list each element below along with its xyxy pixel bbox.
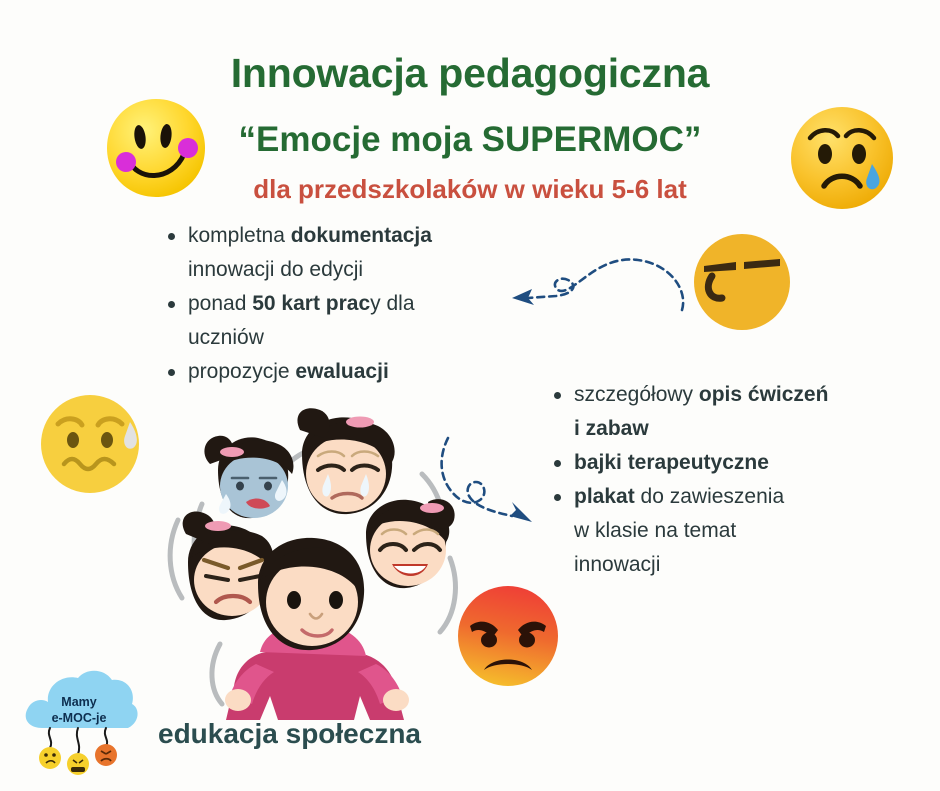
smiley-face-emoji <box>104 96 208 200</box>
bullet-third-line: innowacji <box>574 548 923 582</box>
bullet-second-line: innowacji do edycji <box>188 253 522 287</box>
list-item: plakat do zawieszenia w klasie na temat … <box>548 480 923 582</box>
bullet-text-bold: bajki terapeutyczne <box>574 451 769 474</box>
bullet-second-line: i zabaw <box>574 412 923 446</box>
list-item: propozycje ewaluacji <box>162 355 522 389</box>
bullet-text-bold: 50 kart prac <box>252 292 370 315</box>
emotion-head-sad <box>297 408 394 514</box>
logo-hanging-emoji-2 <box>67 753 89 775</box>
emotion-head-happy <box>366 499 455 588</box>
bullet-text-plain-1: kompletna <box>188 224 291 247</box>
list-item: ponad 50 kart pracy dla uczniów <box>162 287 522 355</box>
bullet-text-plain-2: do zawieszenia <box>635 485 784 508</box>
girl-with-emotion-heads-illustration <box>160 408 476 724</box>
emotion-head-scared <box>204 436 293 518</box>
anxious-face-emoji <box>38 392 142 496</box>
right-feature-list: szczegółowy opis ćwiczeń i zabaw bajki t… <box>548 378 923 582</box>
bullet-text-plain-2: y dla <box>370 292 414 315</box>
bullet-text-plain-1: ponad <box>188 292 252 315</box>
logo-line-2: e-MOC-je <box>52 711 107 725</box>
logo-line-1: Mamy <box>61 695 96 709</box>
emotion-head-neutral <box>258 538 364 650</box>
list-item: kompletna dokumentacja innowacji do edyc… <box>162 219 522 287</box>
bullet-text-bold: dokumentacja <box>291 224 432 247</box>
logo-hanging-emoji-3 <box>95 744 117 766</box>
poster-title-line-1: Innowacja pedagogiczna <box>0 52 940 95</box>
bullet-text-bold: ewaluacji <box>295 360 388 383</box>
poster-canvas: Innowacja pedagogiczna “Emocje moja SUPE… <box>0 0 940 788</box>
bullet-text-plain-1: szczegółowy <box>574 383 699 406</box>
list-item: szczegółowy opis ćwiczeń i zabaw <box>548 378 923 446</box>
crying-face-emoji <box>788 104 896 212</box>
left-feature-list: kompletna dokumentacja innowacji do edyc… <box>162 219 522 389</box>
bullet-text-plain-1: propozycje <box>188 360 295 383</box>
logo-hanging-emoji-1 <box>39 747 61 769</box>
emotion-head-angry <box>183 511 274 620</box>
bullet-second-line: w klasie na temat <box>574 514 923 548</box>
dashed-arrow-to-left-icon <box>492 238 692 323</box>
list-item: bajki terapeutyczne <box>548 446 923 480</box>
bullet-text-bold: opis ćwiczeń <box>699 383 829 406</box>
bullet-text-bold: plakat <box>574 485 635 508</box>
mamy-e-moc-je-logo: Mamy e-MOC-je <box>16 662 142 786</box>
bullet-second-line: uczniów <box>188 321 522 355</box>
skeptical-face-emoji <box>692 232 792 332</box>
